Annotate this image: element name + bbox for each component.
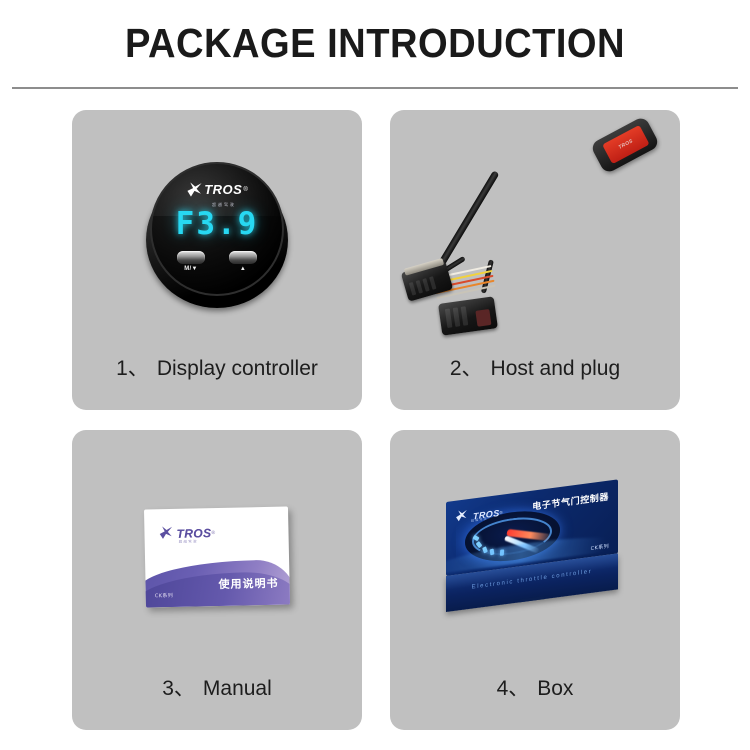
title-divider [12,87,738,89]
brand-registered: ® [500,510,503,515]
plug-connector-secondary [438,296,498,335]
brand-subtitle: 超越驾驶 [471,516,488,522]
mode-down-button[interactable] [177,251,205,264]
box-image: TROS ® 超越驾驶 电子节气门控制器 CK系列 Electronic thr… [390,430,680,665]
brand-registered: ® [243,187,247,193]
mode-down-button-label: M/▼ [176,266,206,272]
box-notch [519,596,545,604]
panel-label: Host and plug [491,357,621,380]
manual-image: TROS ® 超越驾驶 使用说明书 CK系列 [72,430,362,665]
brand-subtitle: 超越驾驶 [179,538,198,543]
manual-title: 使用说明书 [218,575,278,592]
manual-booklet: TROS ® 超越驾驶 使用说明书 CK系列 [144,507,290,608]
package-item-box[interactable]: TROS ® 超越驾驶 电子节气门控制器 CK系列 Electronic thr… [390,430,680,730]
box-title-cn: 电子节气门控制器 [532,490,609,513]
manual-brand-logo: TROS ® 超越驾驶 [158,524,215,542]
display-controller-image: TROS ® 超越驾驶 F3.9 M/▼ ▲ [72,110,362,345]
panel-number: 4、 [497,677,530,700]
host-label: TROS [602,125,649,164]
host-label-brand: TROS [618,138,635,151]
controller-button-row: M/▼ ▲ [152,251,282,272]
package-item-manual[interactable]: TROS ® 超越驾驶 使用说明书 CK系列 3、Manual [72,430,362,730]
panel-caption: 3、Manual [72,672,362,702]
brand-registered: ® [211,530,215,536]
panel-number: 2、 [450,357,483,380]
package-items-grid: TROS ® 超越驾驶 F3.9 M/▼ ▲ [72,110,680,730]
panel-number: 1、 [116,357,149,380]
host-module: TROS [590,115,661,174]
panel-label: Box [537,677,573,700]
xtros-star-logo-icon [455,508,472,527]
package-item-display-controller[interactable]: TROS ® 超越驾驶 F3.9 M/▼ ▲ [72,110,362,410]
controller-screen-value: F3.9 [152,206,282,242]
xtros-star-logo-icon [158,525,175,542]
brand-name: TROS [204,183,242,196]
up-button-label: ▲ [228,266,258,272]
controller-face: TROS ® 超越驾驶 F3.9 M/▼ ▲ [150,162,284,296]
panel-label: Manual [203,677,272,700]
host-and-plug-image: TROS [390,110,680,345]
panel-caption: 4、Box [390,672,680,702]
controller-brand: TROS ® 超越驾驶 [152,181,282,207]
retail-box: TROS ® 超越驾驶 电子节气门控制器 CK系列 Electronic thr… [446,502,624,614]
manual-series: CK系列 [155,592,174,599]
panel-label: Display controller [157,357,318,380]
panel-caption: 2、Host and plug [390,352,680,382]
panel-number: 3、 [162,677,195,700]
page-title: PACKAGE INTRODUCTION [26,0,724,67]
xtros-star-logo-icon [186,181,203,198]
package-item-host-and-plug[interactable]: TROS [390,110,680,410]
panel-caption: 1、Display controller [72,352,362,382]
up-button[interactable] [229,251,257,264]
